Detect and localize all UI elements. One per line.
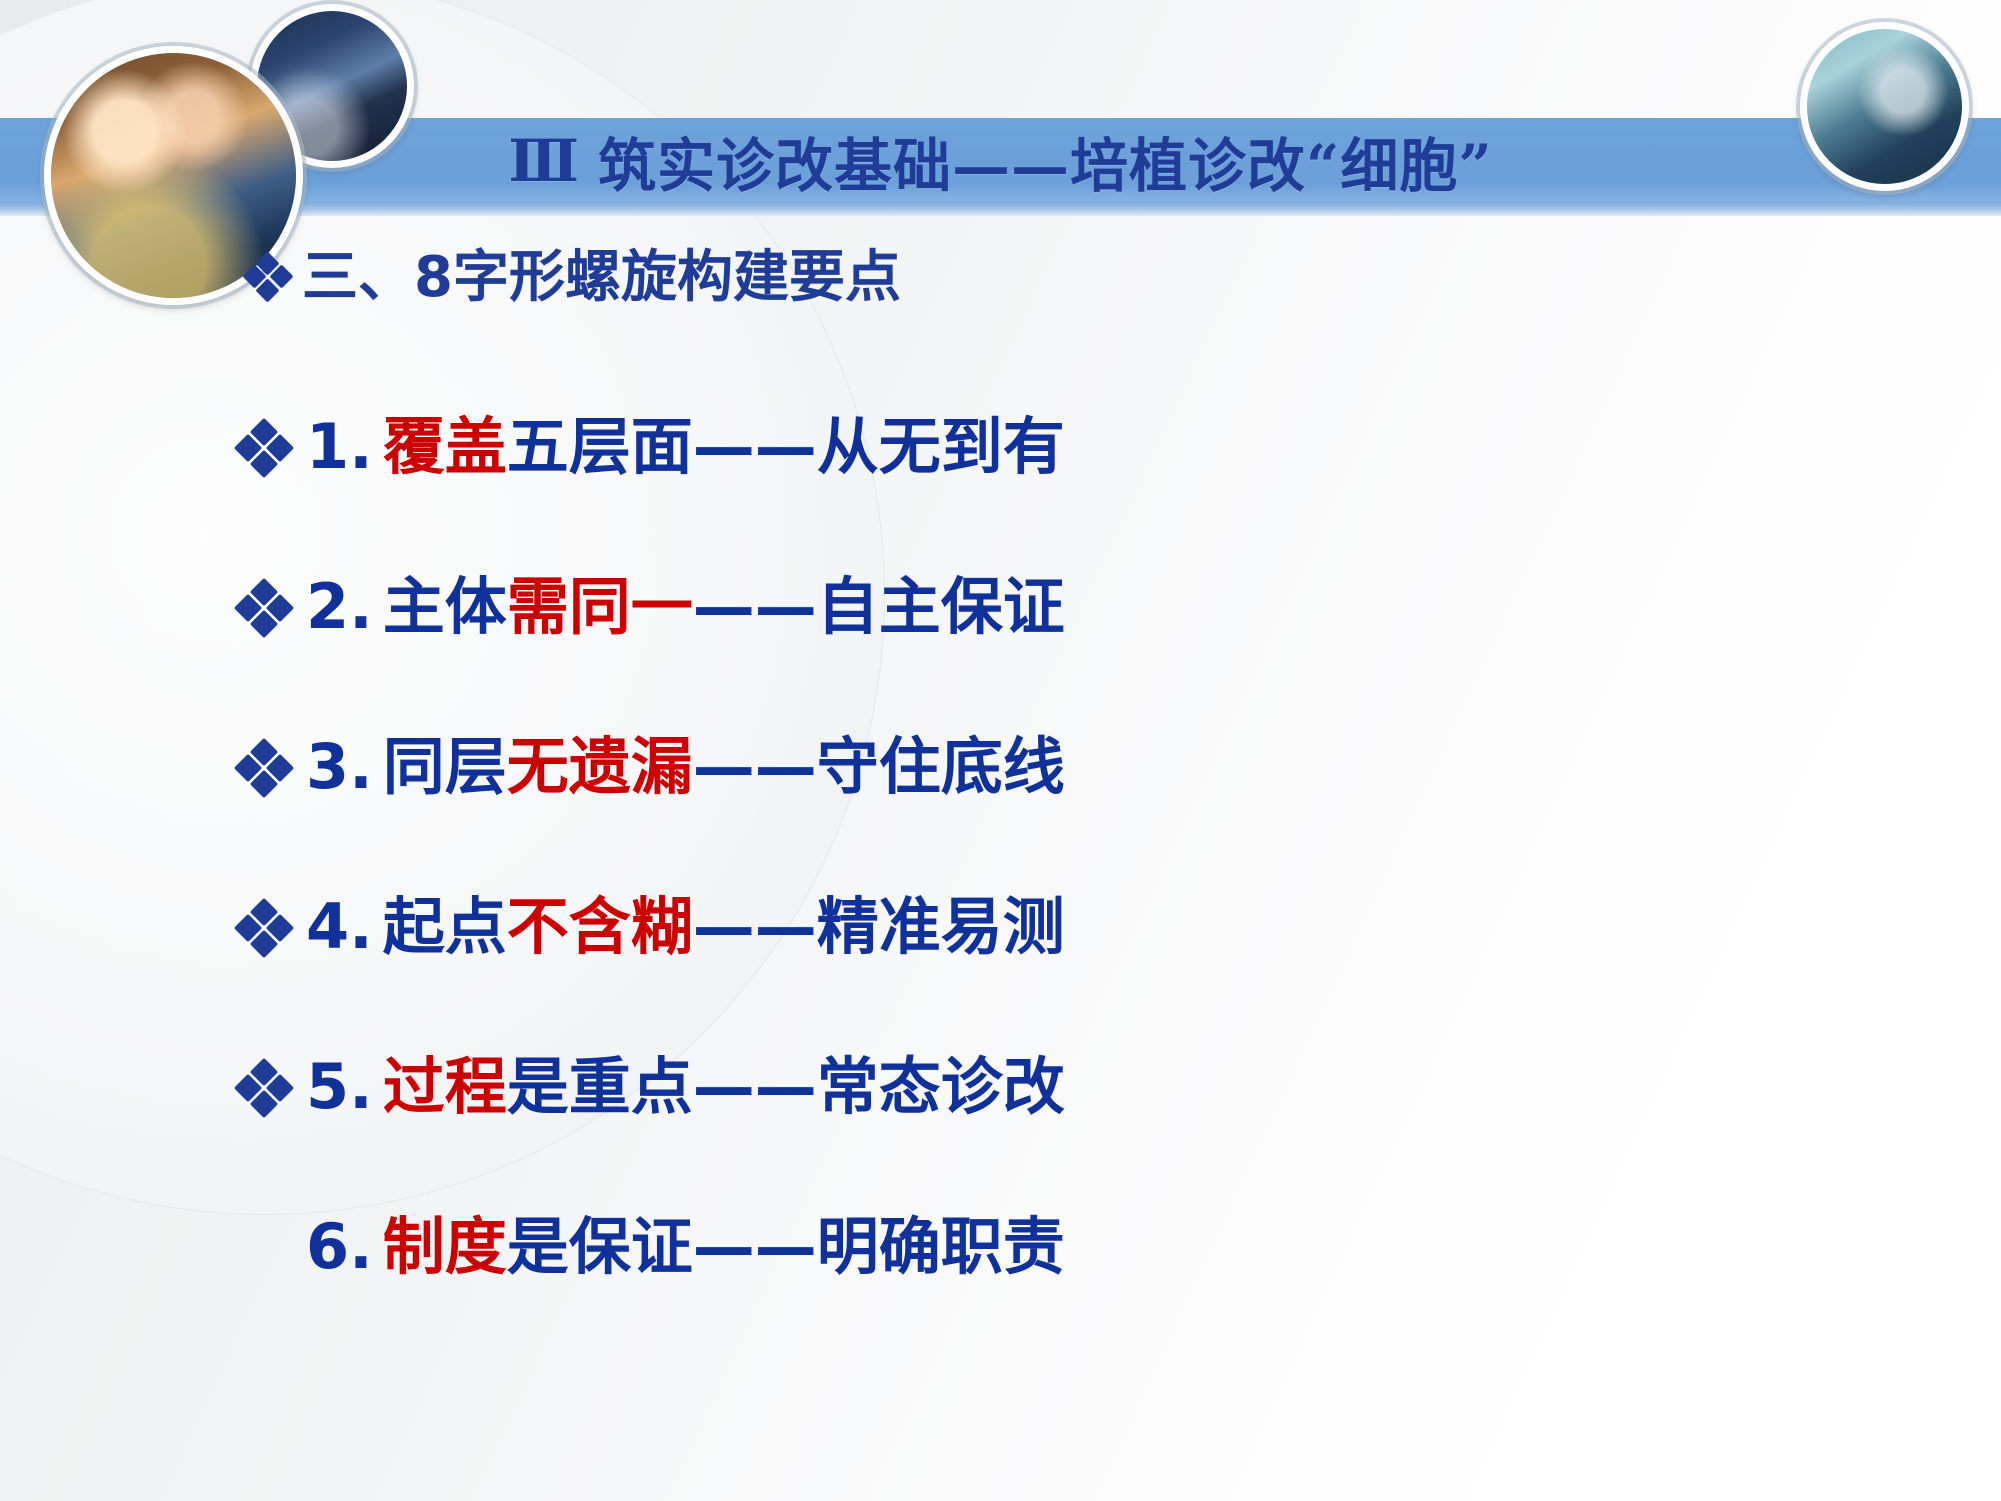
list-item-text: 是保证——明确职责: [507, 1196, 1065, 1286]
diamond-bullet-icon: [238, 422, 290, 474]
diamond-bullet-icon: [246, 255, 290, 299]
list-item-text-tail: ——守住底线: [693, 716, 1065, 806]
diamond-bullet-icon: [238, 582, 290, 634]
list-item-text: 五层面——从无到有: [507, 396, 1065, 486]
list-item-highlight: 过程: [383, 1036, 507, 1126]
presentation-slide: Ⅲ 筑实诊改基础——培植诊改“细胞” 三、8字形螺旋构建要点 1. 覆盖 五层面…: [0, 0, 2001, 1501]
list-item-text: 同层: [383, 716, 507, 806]
list-item-text: 起点: [383, 876, 507, 966]
list-item-number: 3.: [306, 730, 373, 803]
list-item-number: 6.: [306, 1210, 373, 1283]
list-item-highlight: 覆盖: [383, 396, 507, 486]
header-band-shadow: [0, 202, 2001, 216]
list-item: 6. 制度 是保证——明确职责: [306, 1196, 1065, 1286]
list-item-text-tail: ——精准易测: [693, 876, 1065, 966]
slide-content: 三、8字形螺旋构建要点 1. 覆盖 五层面——从无到有 2. 主体 需同一 ——…: [0, 216, 2001, 1501]
list-item-highlight: 制度: [383, 1196, 507, 1286]
list-item-text-tail: ——自主保证: [693, 556, 1065, 646]
subheading-text: 三、8字形螺旋构建要点: [302, 232, 901, 313]
diamond-bullet-icon: [238, 742, 290, 794]
list-item-highlight: 无遗漏: [507, 716, 693, 806]
list-item: 3. 同层 无遗漏 ——守住底线: [238, 716, 1065, 806]
list-item: 1. 覆盖 五层面——从无到有: [238, 396, 1065, 486]
list-item: 2. 主体 需同一 ——自主保证: [238, 556, 1065, 646]
header-title-text: 筑实诊改基础——培植诊改“细胞”: [598, 119, 1493, 203]
section-roman-numeral: Ⅲ: [508, 127, 580, 195]
list-item-number: 5.: [306, 1050, 373, 1123]
list-item-highlight: 不含糊: [507, 876, 693, 966]
list-item-number: 2.: [306, 570, 373, 643]
business-people-photo-right: [1800, 22, 1969, 191]
list-item-number: 1.: [306, 410, 373, 483]
list-item-number: 4.: [306, 890, 373, 963]
list-item: 4. 起点 不含糊 ——精准易测: [238, 876, 1065, 966]
list-item: 5. 过程 是重点——常态诊改: [238, 1036, 1065, 1126]
diamond-bullet-icon: [238, 1062, 290, 1114]
list-item-highlight: 需同一: [507, 556, 693, 646]
diamond-bullet-icon: [238, 902, 290, 954]
list-item-text: 是重点——常态诊改: [507, 1036, 1065, 1126]
subheading: 三、8字形螺旋构建要点: [246, 232, 901, 313]
list-item-text: 主体: [383, 556, 507, 646]
